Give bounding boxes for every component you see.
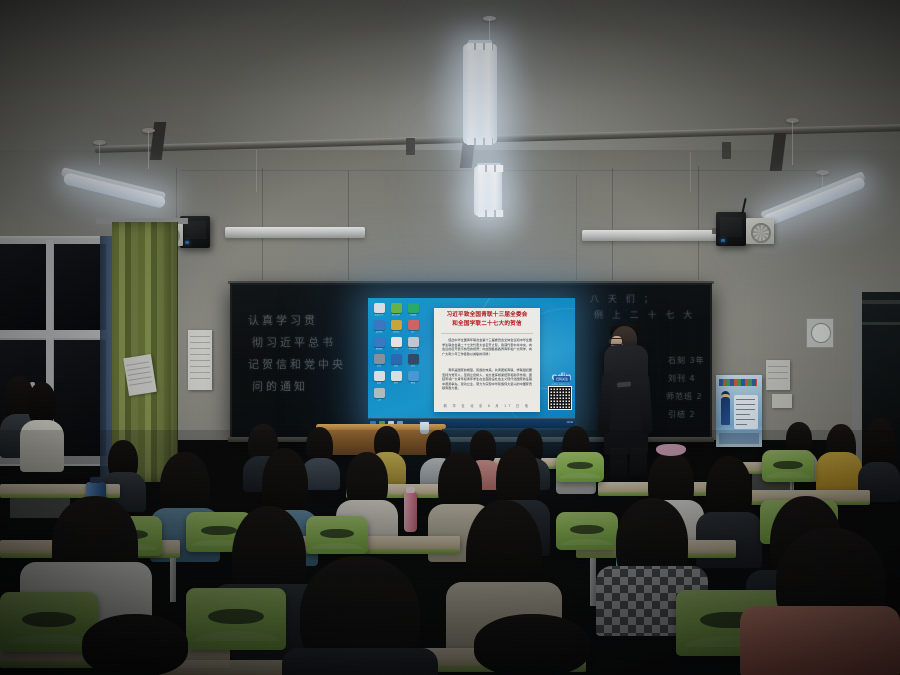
computer-icon[interactable]: 此电脑 <box>373 320 385 334</box>
pipe-clamp <box>722 142 731 159</box>
hanging-tube-light-rear <box>474 166 502 216</box>
icon-label: 浏览器 <box>407 314 419 317</box>
text-file-icon[interactable]: 新建文本 <box>373 303 385 317</box>
icon-label: 此电脑 <box>373 331 385 334</box>
icon-glyph <box>408 320 419 330</box>
ceiling-rod <box>99 143 100 165</box>
icon-glyph <box>391 337 402 347</box>
drive-icon[interactable]: 本地磁盘 <box>407 337 419 351</box>
taskbar-clock: 19:42 <box>567 421 574 424</box>
icon-glyph <box>374 388 385 398</box>
pipe-clamp <box>406 138 415 155</box>
icon-glyph <box>408 337 419 347</box>
app-icon[interactable]: 应用 <box>373 354 385 368</box>
icon-glyph <box>408 354 419 364</box>
document-title-line-1: 习近平致全国青联十三届全委会 <box>439 312 535 320</box>
icon-glyph <box>391 303 402 313</box>
icon-label: 聊天 <box>407 382 419 385</box>
icon-label: 新建文本 <box>373 314 385 317</box>
chalk-text-top-right: 八 天 们 ； <box>590 292 656 305</box>
desk-leg <box>170 558 176 602</box>
wall-vent-right <box>746 218 774 244</box>
wall-seam <box>262 168 263 280</box>
icon-label: 课件资料 <box>390 314 402 317</box>
icon-glyph <box>374 354 385 364</box>
icon-glyph <box>391 371 402 381</box>
window-pane <box>0 244 48 330</box>
wall-fixture-left <box>225 227 365 238</box>
glasses-icon <box>608 338 623 345</box>
icon-glyph <box>374 371 385 381</box>
student-chair[interactable] <box>186 588 286 650</box>
icon-label: 文档 <box>390 348 402 351</box>
speaker-led <box>185 241 189 244</box>
recycle-bin-icon[interactable]: 回收站 <box>390 320 402 334</box>
document-footer: 新 华 社 北 京 8 月 17 日 电 <box>442 403 532 408</box>
poster-text-card <box>734 395 758 429</box>
wall-box <box>806 318 834 348</box>
wall-seam <box>348 170 349 280</box>
chalk-text-top-right: 例 上 二 十 七 大 <box>594 308 695 321</box>
student-chair[interactable] <box>556 512 618 550</box>
cloud-icon[interactable]: 云盘 <box>373 371 385 385</box>
document-paragraph-2: 青年是国家的希望，民族的未来。共青团和青联、学联组织要坚持为党育人，坚持立德树人… <box>442 368 532 391</box>
qr-badge: 扫码关注 <box>554 376 570 382</box>
icon-glyph <box>374 303 385 313</box>
wall-notice-sheet <box>188 330 212 390</box>
icon-label: 云盘 <box>373 382 385 385</box>
doc-icon[interactable]: 文档 <box>390 337 402 351</box>
icon-glyph <box>408 303 419 313</box>
vent-fan-icon <box>751 223 771 243</box>
folder-icon[interactable]: 课件资料 <box>390 303 402 317</box>
icon-glyph <box>391 320 402 330</box>
office-icon[interactable]: 办公 <box>390 354 402 368</box>
qr-code <box>548 386 572 410</box>
document-paragraph-1: 值此中华全国青年联合会第十三届委员会全体会议和中华全国学生联合会第二十七次代表大… <box>442 338 532 356</box>
window-pane <box>54 244 106 330</box>
media-icon[interactable]: 播放器 <box>373 337 385 351</box>
browser-icon[interactable]: 浏览器 <box>407 303 419 317</box>
safety-poster <box>716 375 762 447</box>
projected-screen: 新建文本课件资料浏览器此电脑回收站用户播放器文档本地磁盘应用办公显示云盘邮件聊天… <box>368 298 575 428</box>
icon-glyph <box>374 320 385 330</box>
wall-seam <box>698 166 699 280</box>
icon-label: 本地磁盘 <box>407 348 419 351</box>
wall-notice-sheet <box>766 360 790 390</box>
wall-fixture-right <box>582 230 718 241</box>
ceiling-rod <box>256 150 257 192</box>
icon-label: 邮件 <box>390 382 402 385</box>
icon-label: 办公 <box>390 365 402 368</box>
icon-glyph <box>408 371 419 381</box>
student-chair[interactable] <box>762 450 814 482</box>
icon-label: 工具 <box>373 399 385 402</box>
icon-glyph <box>391 354 402 364</box>
wall-seam <box>612 168 613 280</box>
ceiling-rod <box>148 131 149 169</box>
door-bar <box>860 300 900 304</box>
wall-box-dial <box>811 323 831 343</box>
speaker-led <box>721 239 725 242</box>
document-title-line-2: 和全国学联二十七大的贺信 <box>439 321 535 329</box>
chalk-text-right: 师范班 2 <box>666 391 703 402</box>
door-bar <box>860 322 900 325</box>
monitor-icon[interactable]: 显示 <box>407 354 419 368</box>
wall-notice-sheet <box>123 354 157 396</box>
wall-notice-sheet <box>772 394 792 408</box>
presenter-leg <box>630 448 647 476</box>
presenter-leg <box>610 448 627 478</box>
icon-label: 用户 <box>407 331 419 334</box>
wall-speaker-right <box>716 212 746 246</box>
water-cup <box>420 422 429 434</box>
chalk-text-left: 问的通知 <box>252 378 308 394</box>
tool-icon[interactable]: 工具 <box>373 388 385 402</box>
chat-icon[interactable]: 聊天 <box>407 371 419 385</box>
chalk-text-right: 引结 2 <box>668 409 696 420</box>
ceiling-rod <box>792 121 793 165</box>
icon-glyph <box>374 337 385 347</box>
student-chair[interactable] <box>306 516 368 554</box>
chalk-text-right: 刘刊 4 <box>668 373 696 384</box>
student-chair[interactable] <box>556 452 604 482</box>
icon-label: 回收站 <box>390 331 402 334</box>
chalk-text-left: 彻习近平总书 <box>252 334 336 350</box>
speaker-grill <box>720 217 742 237</box>
officer-figure-icon <box>721 397 730 425</box>
chalk-text-left: 认真学习贯 <box>248 312 318 328</box>
icon-label: 应用 <box>373 365 385 368</box>
icon-label: 播放器 <box>373 348 385 351</box>
mail-icon[interactable]: 邮件 <box>390 371 402 385</box>
window-mullion <box>0 330 110 338</box>
user-icon[interactable]: 用户 <box>407 320 419 334</box>
document-page: 习近平致全国青联十三届全委会 和全国学联二十七大的贺信 值此中华全国青年联合会第… <box>434 308 540 412</box>
ceiling-rod <box>690 152 691 192</box>
chalk-text-left: 记贺信和党中央 <box>248 356 346 372</box>
wall-seam <box>576 175 577 280</box>
chalk-text-right: 石刻 3年 <box>668 355 705 366</box>
document-rule <box>441 333 533 334</box>
icon-label: 显示 <box>407 365 419 368</box>
poster-footer <box>719 433 759 444</box>
classroom-photo: 认真学习贯 彻习近平总书 记贺信和党中央 问的通知 八 天 们 ； 例 上 二 … <box>0 0 900 675</box>
hanging-tube-light-front <box>463 44 497 144</box>
water-bottle-pink <box>404 492 417 532</box>
poster-color-bar <box>719 379 757 386</box>
